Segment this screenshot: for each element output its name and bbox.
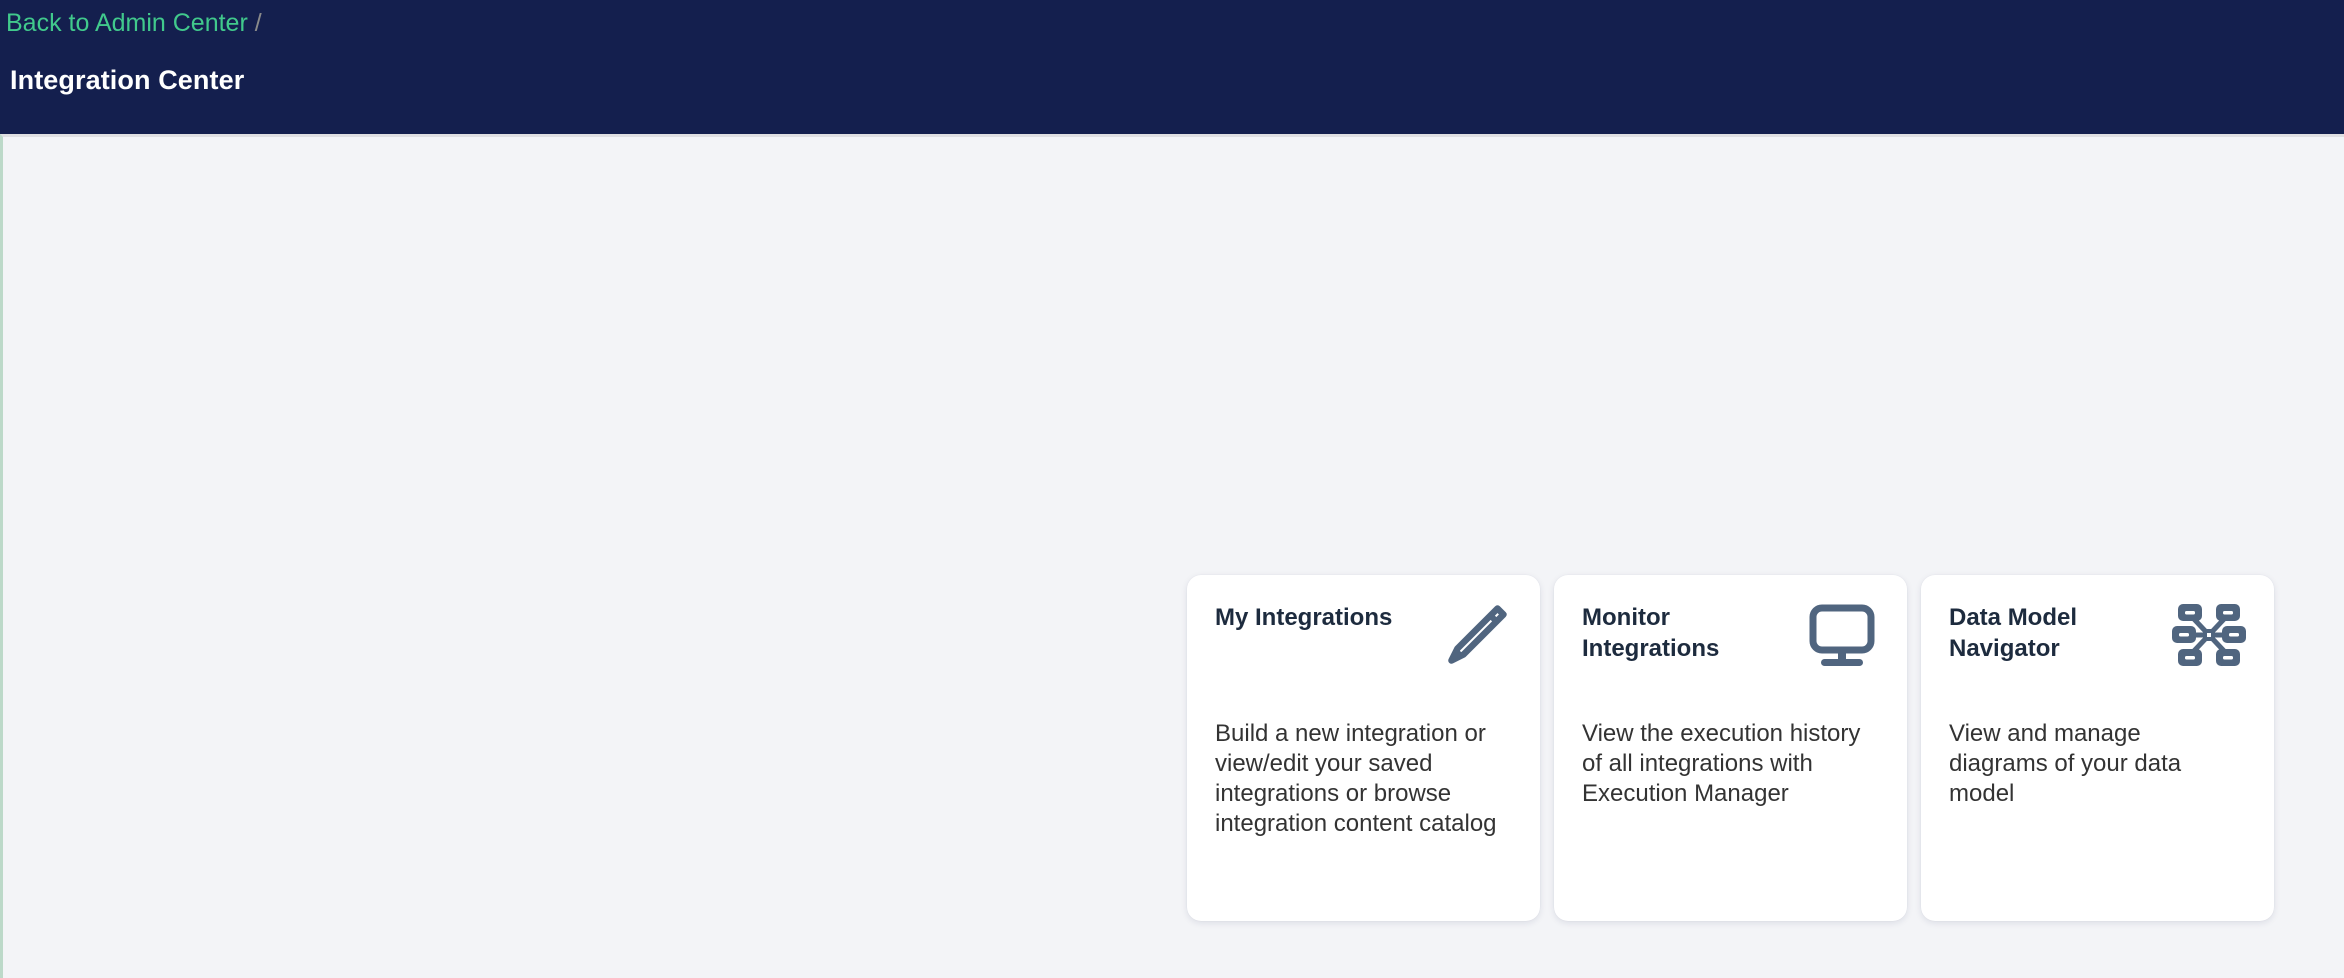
tile-description: View and manage diagrams of your data mo…: [1949, 719, 2246, 809]
tile-description: Build a new integration or view/edit you…: [1215, 719, 1512, 839]
integration-center-app: Back to Admin Center / Integration Cente…: [0, 0, 2344, 978]
pencil-icon: [1438, 598, 1512, 672]
tile-monitor-integrations[interactable]: Monitor Integrations View the execution …: [1554, 575, 1907, 921]
tile-title: My Integrations: [1215, 602, 1392, 633]
tile-strip: My Integrations Build a new integration …: [1187, 575, 2274, 921]
tile-data-model-navigator[interactable]: Data Model Navigator: [1921, 575, 2274, 921]
breadcrumb-back-to-admin-center-link[interactable]: Back to Admin Center: [6, 6, 248, 40]
breadcrumb-separator: /: [255, 6, 262, 40]
app-header: Back to Admin Center / Integration Cente…: [0, 0, 2344, 134]
monitor-icon: [1805, 598, 1879, 672]
tile-header: Data Model Navigator: [1949, 602, 2246, 692]
tile-title: Monitor Integrations: [1582, 602, 1782, 664]
tile-header: My Integrations: [1215, 602, 1512, 692]
tile-title: Data Model Navigator: [1949, 602, 2149, 664]
tile-description: View the execution history of all integr…: [1582, 719, 1879, 809]
tile-my-integrations[interactable]: My Integrations Build a new integration …: [1187, 575, 1540, 921]
data-model-icon: [2172, 598, 2246, 672]
content-area: My Integrations Build a new integration …: [0, 134, 2344, 978]
breadcrumb: Back to Admin Center /: [4, 6, 2344, 46]
page-title: Integration Center: [4, 46, 2344, 97]
tile-header: Monitor Integrations: [1582, 602, 1879, 692]
